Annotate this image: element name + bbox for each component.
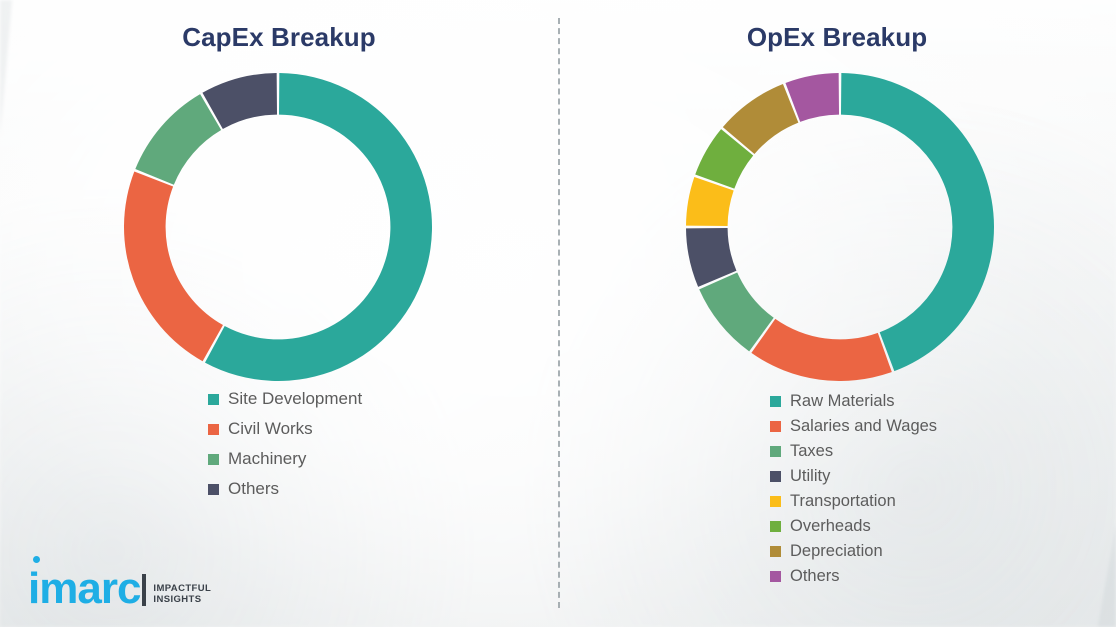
legend-swatch-icon [770,421,781,432]
capex-donut-chart [124,73,432,381]
legend-swatch-icon [208,424,219,435]
legend-swatch-icon [770,571,781,582]
legend-label: Taxes [790,441,833,461]
capex-legend: Site DevelopmentCivil WorksMachineryOthe… [208,389,362,509]
legend-swatch-icon [770,396,781,407]
opex-legend-item: Overheads [770,516,937,536]
opex-legend-item: Taxes [770,441,937,461]
legend-swatch-icon [208,394,219,405]
legend-label: Overheads [790,516,871,536]
logo-tagline-line-1: IMPACTFUL [153,583,211,594]
opex-chart-title: OpEx Breakup [558,22,1116,53]
opex-legend-item: Utility [770,466,937,486]
legend-swatch-icon [208,454,219,465]
legend-swatch-icon [770,471,781,482]
legend-label: Salaries and Wages [790,416,937,436]
opex-legend-item: Salaries and Wages [770,416,937,436]
donut-slice [135,94,221,185]
legend-swatch-icon [770,521,781,532]
opex-legend-item: Depreciation [770,541,937,561]
opex-donut-svg [686,73,994,381]
legend-label: Others [790,566,840,586]
legend-swatch-icon [770,496,781,507]
logo-wordmark: imarc [28,569,140,609]
opex-legend-item: Others [770,566,937,586]
capex-panel: CapEx Breakup Site DevelopmentCivil Work… [0,0,558,627]
opex-panel: OpEx Breakup Raw MaterialsSalaries and W… [558,0,1116,627]
legend-swatch-icon [208,484,219,495]
legend-label: Others [228,479,279,499]
capex-legend-item: Civil Works [208,419,362,439]
donut-slice [841,73,994,371]
capex-legend-item: Machinery [208,449,362,469]
capex-donut-svg [124,73,432,381]
opex-legend-item: Raw Materials [770,391,937,411]
capex-chart-title: CapEx Breakup [0,22,558,53]
capex-legend-item: Site Development [208,389,362,409]
legend-label: Raw Materials [790,391,895,411]
capex-legend-item: Others [208,479,362,499]
panel-divider [558,18,560,608]
logo-tagline: IMPACTFUL INSIGHTS [153,583,211,605]
legend-label: Site Development [228,389,362,409]
legend-label: Transportation [790,491,896,511]
opex-legend: Raw MaterialsSalaries and WagesTaxesUtil… [770,391,937,591]
legend-label: Machinery [228,449,306,469]
imarc-logo: imarc IMPACTFUL INSIGHTS [28,569,211,609]
legend-label: Civil Works [228,419,313,439]
opex-legend-item: Transportation [770,491,937,511]
legend-label: Depreciation [790,541,883,561]
legend-label: Utility [790,466,830,486]
logo-tagline-line-2: INSIGHTS [153,594,211,605]
donut-slice [124,172,223,362]
legend-swatch-icon [770,546,781,557]
logo-dot-icon [33,556,40,563]
legend-swatch-icon [770,446,781,457]
logo-wordmark-text: imarc [28,564,140,613]
logo-divider-bar [142,574,146,606]
donut-slice [751,319,891,381]
slide-canvas: CapEx Breakup Site DevelopmentCivil Work… [0,0,1116,627]
opex-donut-chart [686,73,994,381]
